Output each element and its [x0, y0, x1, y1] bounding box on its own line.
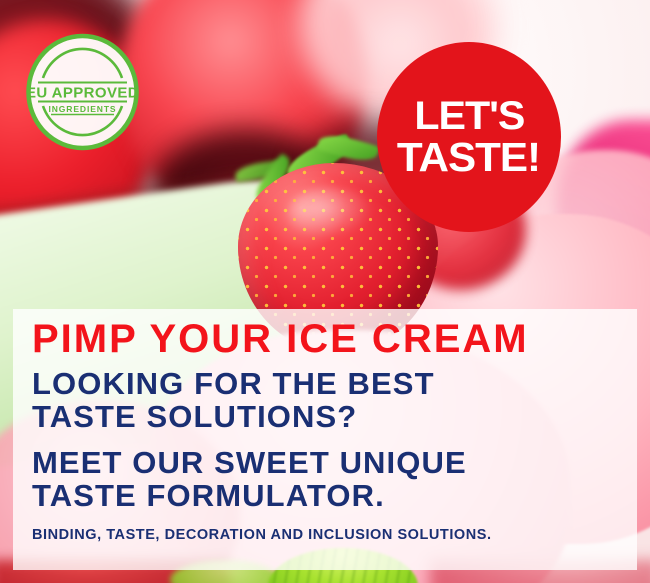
- lets-taste-line-1: LET'S: [414, 97, 524, 135]
- copy-panel-inner: PIMP YOUR ICE CREAM LOOKING FOR THE BEST…: [32, 315, 627, 543]
- copy-panel: PIMP YOUR ICE CREAM LOOKING FOR THE BEST…: [13, 309, 637, 570]
- eu-approved-seal-icon: EU APPROVED INGREDIENTS: [25, 33, 140, 151]
- lets-taste-badge[interactable]: LET'S TASTE!: [377, 42, 561, 232]
- page-title: PIMP YOUR ICE CREAM: [32, 319, 627, 359]
- badge-main-label: EU APPROVED: [26, 85, 139, 102]
- ice-cream-promo-poster: EU APPROVED INGREDIENTS LET'S TASTE! PIM…: [0, 0, 650, 583]
- copy-block-2-line-1: MEET OUR SWEET UNIQUE: [32, 447, 627, 480]
- copy-block-1-line-2: TASTE SOLUTIONS?: [32, 401, 627, 434]
- copy-block-2-line-2: TASTE FORMULATOR.: [32, 480, 627, 513]
- copy-block-1: LOOKING FOR THE BEST TASTE SOLUTIONS?: [32, 368, 627, 434]
- lets-taste-line-2: TASTE!: [397, 138, 540, 177]
- badge-sub-label: INGREDIENTS: [49, 104, 117, 114]
- copy-block-1-line-1: LOOKING FOR THE BEST: [32, 368, 627, 401]
- copy-block-2: MEET OUR SWEET UNIQUE TASTE FORMULATOR.: [32, 447, 627, 513]
- strawberry-highlight: [288, 187, 374, 239]
- services-footer-line: BINDING, TASTE, DECORATION AND INCLUSION…: [32, 527, 627, 543]
